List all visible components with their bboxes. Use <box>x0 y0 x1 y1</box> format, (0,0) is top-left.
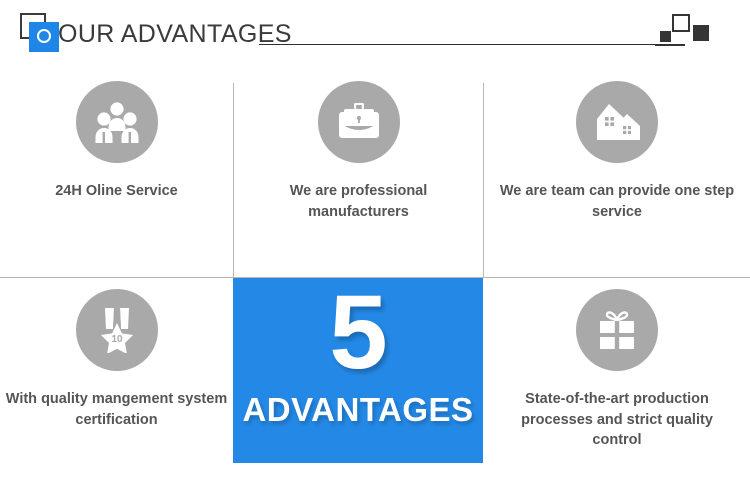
icon-badge <box>318 81 400 163</box>
houses-icon <box>593 102 641 142</box>
advantage-cell-5[interactable]: State-of-the-art production processes an… <box>484 289 750 451</box>
logo-blue-square <box>29 22 59 52</box>
logo-o-ring-icon <box>37 29 51 43</box>
award-medal-icon: 10 <box>95 307 139 353</box>
center-highlight-panel[interactable]: 5 ADVANTAGES <box>233 278 483 463</box>
header-underline <box>259 44 660 45</box>
icon-badge: 10 <box>76 289 158 371</box>
people-group-icon <box>94 101 140 143</box>
decor-square-large <box>693 25 709 41</box>
logo <box>20 13 62 55</box>
advantage-label-2: We are professional manufacturers <box>241 181 476 222</box>
page-title: OUR ADVANTAGES <box>58 20 292 49</box>
medal-badge-number: 10 <box>111 334 123 345</box>
icon-badge <box>576 81 658 163</box>
slide-canvas: OUR ADVANTAGES 24 <box>0 0 750 490</box>
advantage-count: 5 <box>329 280 386 385</box>
advantage-label-3: We are team can provide one step service <box>500 181 735 222</box>
icon-badge <box>76 81 158 163</box>
decor-square-outline <box>672 14 690 32</box>
advantage-cell-2[interactable]: We are professional manufacturers <box>234 81 483 222</box>
advantage-cell-4[interactable]: 10 With quality mangement system certifi… <box>0 289 233 430</box>
advantage-cell-3[interactable]: We are team can provide one step service <box>484 81 750 222</box>
advantage-word: ADVANTAGES <box>242 391 473 429</box>
gift-box-icon <box>595 308 639 352</box>
header: OUR ADVANTAGES <box>0 0 750 70</box>
advantage-cell-1[interactable]: 24H Oline Service <box>0 81 233 202</box>
decor-line <box>655 44 685 46</box>
advantage-label-5: State-of-the-art production processes an… <box>500 389 735 451</box>
advantage-label-1: 24H Oline Service <box>0 181 234 202</box>
decor-square-small <box>660 31 671 42</box>
briefcase-icon <box>336 102 382 142</box>
icon-badge <box>576 289 658 371</box>
advantage-label-4: With quality mangement system certificat… <box>0 389 234 430</box>
